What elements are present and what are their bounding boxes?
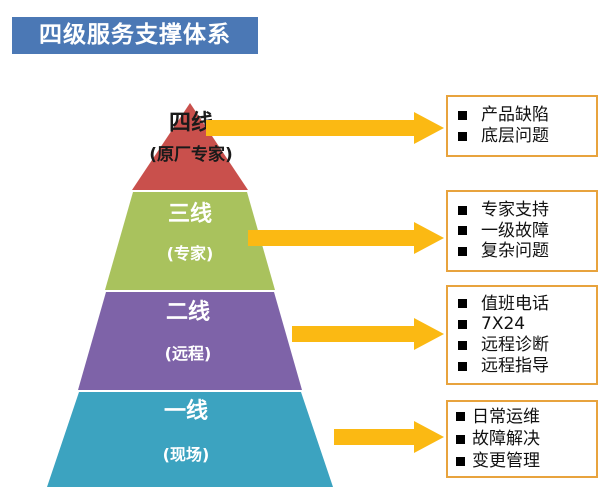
list-item: 值班电话: [458, 294, 596, 315]
callout-4-item-1: 故障解决: [472, 428, 540, 450]
square-bullet-icon: [458, 341, 467, 350]
callout-3-item-2: 远程诊断: [481, 335, 549, 356]
callout-1-list: 产品缺陷 底层问题: [448, 105, 596, 146]
square-bullet-icon: [456, 435, 465, 444]
pyramid-tier-2-label: 二线 (远程): [118, 301, 258, 363]
tier-1-sub: (现场): [116, 447, 256, 464]
arrow-tier-3: [248, 222, 444, 254]
callout-box-tier-4: 产品缺陷 底层问题: [446, 95, 598, 157]
callout-2-item-0: 专家支持: [481, 200, 549, 221]
list-item: 一级故障: [458, 221, 596, 242]
right-arrow-icon: [334, 421, 444, 453]
list-item: 远程指导: [458, 356, 596, 377]
diagram-canvas: 四级服务支撑体系 四线 (原厂专家) 三线 (专家) 二线 (远程) 一线 (现…: [0, 0, 612, 500]
square-bullet-icon: [458, 206, 467, 215]
list-item: 产品缺陷: [458, 105, 596, 126]
tier-4-sub: (原厂专家): [126, 147, 256, 165]
right-arrow-icon: [206, 112, 444, 144]
callout-2-item-2: 复杂问题: [481, 241, 549, 262]
tier-1-name: 一线: [116, 400, 256, 423]
list-item: 日常运维: [456, 406, 596, 428]
callout-2-item-1: 一级故障: [481, 221, 549, 242]
list-item: 7X24: [458, 314, 596, 335]
tier-3-sub: (专家): [120, 246, 260, 263]
callout-4-list: 日常运维 故障解决 变更管理: [448, 406, 596, 472]
list-item: 底层问题: [458, 126, 596, 147]
callout-3-item-1: 7X24: [481, 314, 525, 335]
arrow-tier-2: [292, 318, 444, 350]
callout-box-tier-3: 专家支持 一级故障 复杂问题: [446, 190, 598, 272]
square-bullet-icon: [458, 132, 467, 141]
callout-3-item-0: 值班电话: [481, 294, 549, 315]
square-bullet-icon: [456, 457, 465, 466]
title-banner: 四级服务支撑体系: [12, 17, 258, 54]
square-bullet-icon: [458, 299, 467, 308]
list-item: 复杂问题: [458, 241, 596, 262]
callout-1-item-1: 底层问题: [481, 126, 549, 147]
list-item: 故障解决: [456, 428, 596, 450]
callout-4-item-2: 变更管理: [472, 450, 540, 472]
callout-box-tier-1: 日常运维 故障解决 变更管理: [446, 400, 598, 478]
pyramid-tier-3-label: 三线 (专家): [120, 203, 260, 263]
page-title: 四级服务支撑体系: [39, 24, 231, 47]
tier-2-sub: (远程): [118, 346, 258, 363]
list-item: 变更管理: [456, 450, 596, 472]
tier-2-name: 二线: [118, 301, 258, 324]
right-arrow-icon: [248, 222, 444, 254]
callout-1-item-0: 产品缺陷: [481, 105, 549, 126]
tier-3-name: 三线: [120, 203, 260, 226]
callout-3-item-3: 远程指导: [481, 356, 549, 377]
callout-3-list: 值班电话 7X24 远程诊断 远程指导: [448, 294, 596, 377]
square-bullet-icon: [458, 362, 467, 371]
arrow-tier-4: [206, 112, 444, 144]
callout-4-item-0: 日常运维: [472, 406, 540, 428]
list-item: 远程诊断: [458, 335, 596, 356]
right-arrow-icon: [292, 318, 444, 350]
square-bullet-icon: [458, 320, 467, 329]
callout-box-tier-2: 值班电话 7X24 远程诊断 远程指导: [446, 285, 598, 385]
square-bullet-icon: [458, 247, 467, 256]
pyramid-tier-1-label: 一线 (现场): [116, 400, 256, 464]
arrow-tier-1: [334, 421, 444, 453]
square-bullet-icon: [456, 412, 465, 421]
list-item: 专家支持: [458, 200, 596, 221]
square-bullet-icon: [458, 226, 467, 235]
callout-2-list: 专家支持 一级故障 复杂问题: [448, 200, 596, 262]
square-bullet-icon: [458, 111, 467, 120]
